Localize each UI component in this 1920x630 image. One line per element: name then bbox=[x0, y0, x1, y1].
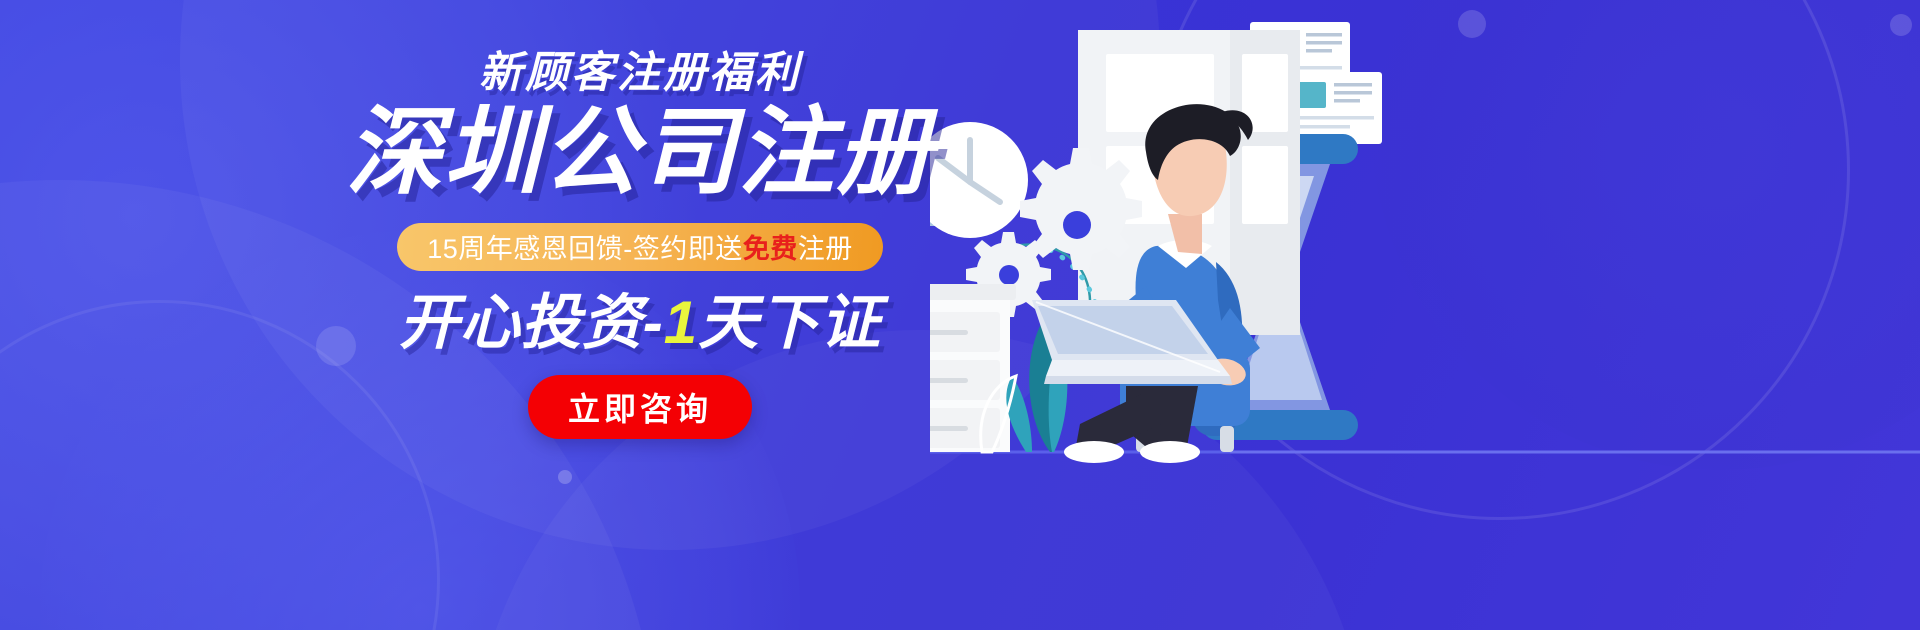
promo-badge: 15周年感恩回馈-签约即送免费注册 bbox=[397, 223, 883, 271]
banner-copy: 新顾客注册福利 深圳公司注册 15周年感恩回馈-签约即送免费注册 开心投资-1天… bbox=[330, 52, 950, 439]
tagline-suffix: 天下证 bbox=[698, 289, 881, 356]
promo-banner: 新顾客注册福利 深圳公司注册 15周年感恩回馈-签约即送免费注册 开心投资-1天… bbox=[0, 0, 1920, 630]
banner-tagline: 开心投资-1天下证 bbox=[330, 293, 950, 353]
banner-headline: 深圳公司注册 bbox=[330, 101, 950, 205]
promo-badge-highlight: 免费 bbox=[743, 227, 798, 266]
hero-illustration bbox=[930, 0, 1920, 630]
tagline-prefix: 开心投资- bbox=[399, 289, 664, 356]
shoe bbox=[1064, 441, 1124, 463]
promo-badge-prefix: 15周年感恩回馈-签约即送 bbox=[427, 227, 743, 266]
promo-badge-row: 15周年感恩回馈-签约即送免费注册 bbox=[330, 223, 950, 271]
background-dot bbox=[558, 470, 572, 484]
tagline-number: 1 bbox=[664, 289, 698, 356]
consult-now-button[interactable]: 立即咨询 bbox=[528, 375, 752, 439]
promo-badge-suffix: 注册 bbox=[798, 227, 853, 266]
banner-kicker: 新顾客注册福利 bbox=[330, 52, 950, 95]
cta-row: 立即咨询 bbox=[330, 375, 950, 439]
shoe bbox=[1140, 441, 1200, 463]
